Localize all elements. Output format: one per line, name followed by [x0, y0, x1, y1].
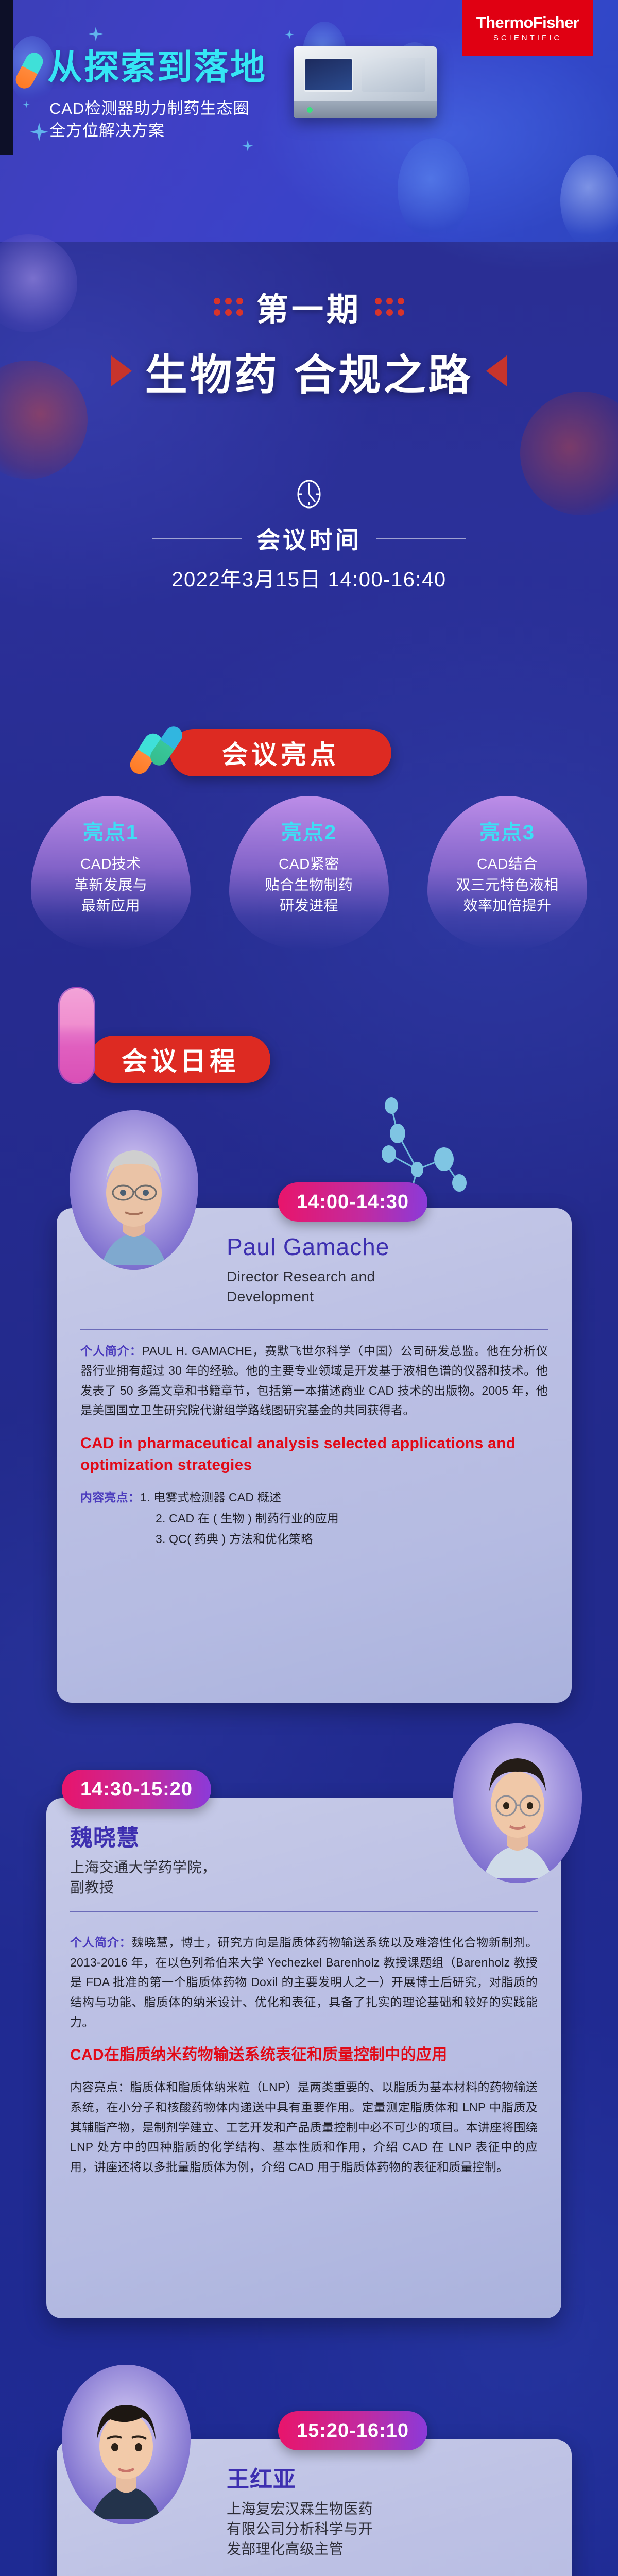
session-time: 15:20-16:10 [297, 2420, 409, 2442]
portrait-wang-hongya [62, 2365, 191, 2524]
sparkle-icon [89, 27, 103, 41]
pink-capsule-decoration [54, 987, 111, 1084]
triangle-left-icon [111, 355, 132, 386]
point-item: 2. CAD 在 ( 生物 ) 制药行业的应用 [156, 1509, 548, 1529]
avatar [70, 1110, 198, 1270]
speaker-name: 王红亚 [227, 2466, 548, 2494]
bio-text: 魏晓慧，博士，研究方向是脂质体药物输送系统以及难溶性化合物新制剂。2013-20… [70, 1936, 538, 2029]
capsule-icon [127, 730, 166, 777]
meeting-time-value: 2022年3月15日 14:00-16:40 [0, 563, 618, 592]
left-edge-strip [0, 0, 13, 155]
point-item: 内容亮点：脂质体和脂质体纳米粒（LNP）是两类重要的、以脂质为基本材料的药物输送… [70, 2077, 538, 2177]
logo-tagline: SCIENTIFIC [493, 34, 562, 42]
session-time-badge: 14:00-14:30 [278, 1182, 427, 1222]
highlight-text: CAD紧密 贴合生物制药 研发进程 [265, 854, 353, 917]
highlight-card: 亮点3 CAD结合 双三元特色液相 效率加倍提升 [427, 796, 587, 951]
talk-points: 内容亮点： 1. 电雾式检测器 CAD 概述 2. CAD 在 ( 生物 ) 制… [80, 1487, 548, 1550]
meeting-time-header: 会议时间 [0, 520, 618, 556]
cell-bubble-deco [560, 155, 618, 242]
capsule-icon [147, 723, 185, 769]
session-time: 14:00-14:30 [297, 1191, 409, 1213]
virus-cell-deco [520, 392, 618, 515]
highlight-number: 亮点3 [479, 816, 535, 845]
bio-text: PAUL H. GAMACHE，赛默飞世尔科学（中国）公司研发总监。他在分析仪器… [80, 1344, 548, 1417]
meeting-time-label: 会议时间 [256, 521, 362, 555]
speaker-role: Director Research and Development [227, 1266, 548, 1307]
highlight-card: 亮点1 CAD技术 革新发展与 最新应用 [31, 796, 191, 951]
speaker-bio: 个人简介：魏晓慧，博士，研究方向是脂质体药物输送系统以及难溶性化合物新制剂。20… [70, 1933, 538, 2032]
portrait-wei-xiaohui [453, 1723, 582, 1883]
bio-label: 个人简介： [80, 1344, 142, 1358]
poster-header: ThermoFisher SCIENTIFIC 从探索到落地 CAD检测器助力制… [0, 0, 618, 242]
poster-subtitle: CAD检测器助力制药生态圈 全方位解决方案 [49, 98, 249, 142]
session-card: Paul Gamache Director Research and Devel… [57, 1208, 572, 1703]
thermofisher-logo: ThermoFisher SCIENTIFIC [462, 0, 593, 56]
highlight-text: CAD结合 双三元特色液相 效率加倍提升 [456, 854, 559, 917]
highlight-card: 亮点2 CAD紧密 贴合生物制药 研发进程 [229, 796, 389, 951]
triangle-right-icon [486, 355, 507, 386]
capsule-icon [13, 49, 46, 91]
sparkle-icon [285, 30, 294, 39]
point-item: 3. QC( 药典 ) 方法和优化策略 [156, 1529, 548, 1549]
capsules-decoration [129, 717, 206, 779]
divider-line-right [376, 538, 466, 539]
topic-row: 生物药 合规之路 [0, 337, 618, 404]
poster-main-title: 从探索到落地 [47, 49, 267, 86]
speaker-role: 上海复宏汉霖生物医药 有限公司分析科学与开 发部理化高级主管 [227, 2499, 548, 2560]
speaker-name: Paul Gamache [227, 1233, 548, 1261]
talk-title: CAD在脂质纳米药物输送系统表征和质量控制中的应用 [70, 2044, 538, 2066]
poster-subtitle-line2: 全方位解决方案 [49, 120, 249, 142]
points-label: 内容亮点： [80, 1487, 140, 1550]
episode-label: 第一期 [256, 283, 362, 330]
episode-row: 第一期 [0, 281, 618, 332]
talk-points: 内容亮点：脂质体和脂质体纳米粒（LNP）是两类重要的、以脂质为基本材料的药物输送… [70, 2077, 538, 2177]
speaker-name: 魏晓慧 [70, 1825, 407, 1852]
dots-decoration-right [375, 298, 404, 316]
session-time-badge: 14:30-15:20 [62, 1770, 211, 1809]
card-divider [70, 1911, 538, 1912]
card-divider [80, 1329, 548, 1330]
highlights-grid: 亮点1 CAD技术 革新发展与 最新应用 亮点2 CAD紧密 贴合生物制药 研发… [31, 796, 587, 951]
sparkle-icon [23, 101, 30, 108]
highlight-text: CAD技术 革新发展与 最新应用 [74, 854, 148, 917]
bio-label: 个人简介： [70, 1936, 132, 1949]
highlight-number: 亮点2 [281, 816, 337, 845]
highlight-number: 亮点1 [83, 816, 139, 845]
instrument-illustration [294, 29, 448, 137]
talk-title: CAD in pharmaceutical analysis selected … [80, 1433, 548, 1476]
avatar [453, 1723, 582, 1883]
highlights-section-label: 会议亮点 [222, 734, 339, 771]
logo-wordmark: ThermoFisher [476, 14, 579, 30]
sparkle-icon [30, 123, 48, 141]
poster-subtitle-line1: CAD检测器助力制药生态圈 [49, 98, 249, 120]
speaker-bio: 个人简介：PAUL H. GAMACHE，赛默飞世尔科学（中国）公司研发总监。他… [80, 1341, 548, 1421]
point-item: 1. 电雾式检测器 CAD 概述 [140, 1487, 548, 1507]
session-time-badge: 15:20-16:10 [278, 2411, 427, 2450]
agenda-section-header: 会议日程 [90, 1036, 270, 1083]
capsule-icon [58, 987, 95, 1084]
topic-title: 生物药 合规之路 [145, 341, 473, 402]
cell-bubble-deco [398, 138, 470, 241]
portrait-paul-gamache [70, 1110, 198, 1270]
divider-line-left [152, 538, 242, 539]
speaker-role: 上海交通大学药学院， 副教授 [70, 1857, 407, 1897]
clock-icon [297, 479, 321, 509]
session-time: 14:30-15:20 [80, 1778, 193, 1801]
avatar [62, 2365, 191, 2524]
agenda-section-label: 会议日程 [122, 1041, 239, 1078]
dots-decoration-left [214, 298, 243, 316]
